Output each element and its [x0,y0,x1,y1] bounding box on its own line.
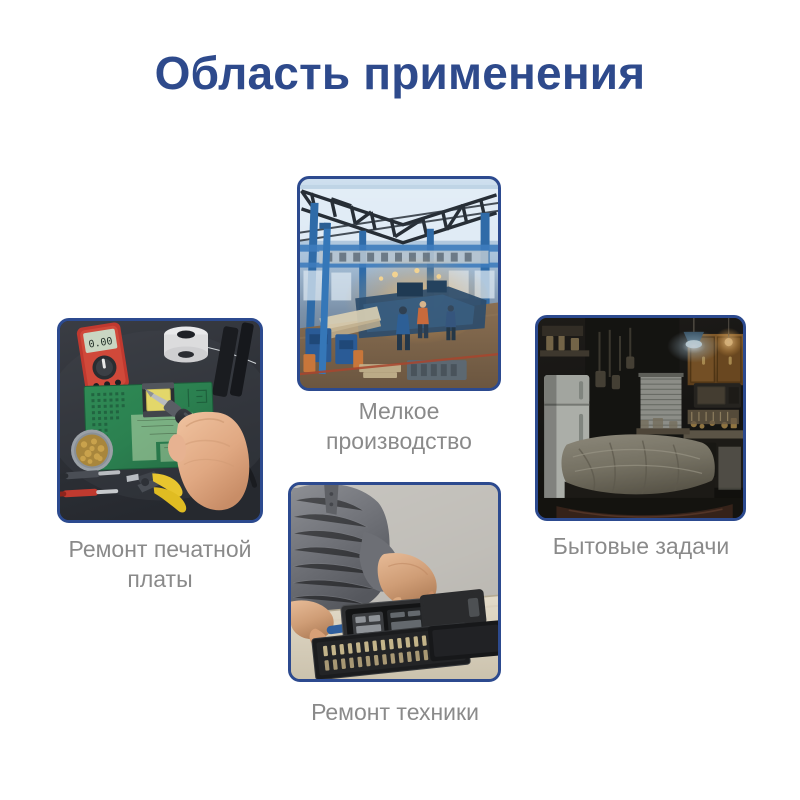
card-small-factory[interactable] [297,176,501,391]
household-photo [538,318,743,518]
card-household[interactable] [535,315,746,521]
card-pcb-repair[interactable]: 0.00 [57,318,263,523]
small-factory-photo [300,179,498,388]
card-device-repair[interactable] [288,482,501,682]
pcb-repair-photo: 0.00 [60,321,260,520]
page-title: Область применения [0,48,800,100]
card-factory-caption: Мелкое производство [299,396,499,457]
slide-canvas: Область применения [0,0,800,800]
card-device-caption: Ремонт техники [280,697,510,727]
card-pcb-caption: Ремонт печатной платы [10,534,310,595]
device-repair-photo [291,485,498,679]
card-household-caption: Бытовые задачи [516,531,766,561]
